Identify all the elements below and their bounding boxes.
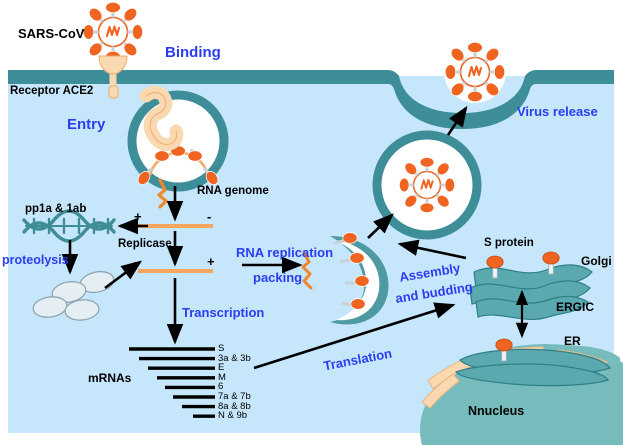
virion-extracellular (82, 1, 144, 63)
label-ergic: ERGIC (556, 300, 594, 314)
label-mrnas: mRNAs (88, 371, 131, 385)
label-pp1a-1ab: pp1a & 1ab (25, 203, 86, 215)
sars-cov-replication-diagram: SARS-CoV Binding Receptor ACE2 Entry RNA… (0, 0, 623, 445)
label-transcription: Transcription (182, 305, 264, 320)
endosome-vesicle (132, 92, 224, 187)
transport-vesicle-with-virion (377, 135, 477, 235)
label-packing: packing (253, 270, 302, 285)
label-virus-release: Virus release (517, 104, 598, 119)
label-strand-plus-1: + (134, 209, 142, 224)
label-nucleus: Nnucleus (468, 404, 524, 418)
label-strand-minus-2: - (134, 254, 138, 269)
label-proteolysis: proteolysis (2, 253, 69, 267)
label-strand-minus-1: - (207, 209, 211, 224)
virion-budding-at-membrane (444, 41, 506, 103)
label-strand-plus-2: + (207, 254, 215, 269)
label-rna-genome: RNA genome (197, 185, 269, 197)
mrna-species-label: N & 9b (218, 410, 247, 421)
label-entry: Entry (67, 116, 105, 133)
label-golgi: Golgi (581, 254, 612, 268)
label-replicase: Replicase (118, 238, 172, 250)
label-s-protein: S protein (484, 237, 534, 249)
label-sars-cov: SARS-CoV (18, 26, 84, 41)
label-er: ER (564, 334, 581, 348)
label-rna-replication: RNA replication (236, 245, 333, 260)
label-binding: Binding (165, 44, 221, 61)
label-receptor-ace2: Receptor ACE2 (10, 85, 93, 97)
